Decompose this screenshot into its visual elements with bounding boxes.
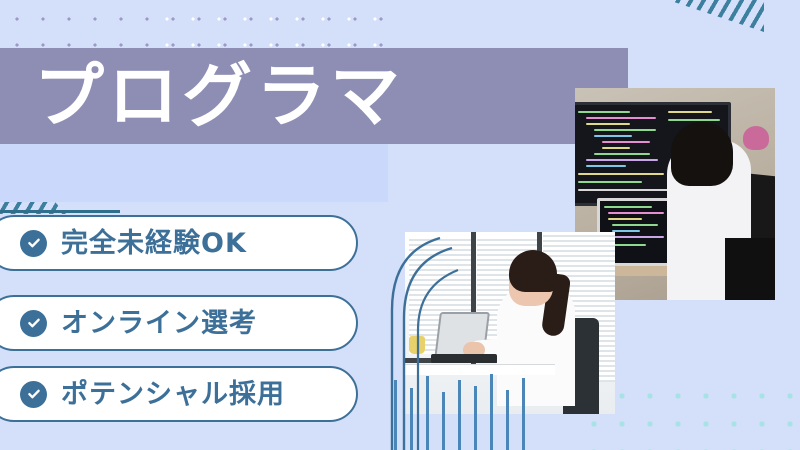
page-title: プログラマ bbox=[34, 61, 404, 131]
check-circle-icon bbox=[20, 310, 47, 337]
coffee-mug bbox=[409, 336, 425, 354]
banner-canvas: プログラマ bbox=[0, 0, 800, 450]
title-band: プログラマ bbox=[0, 48, 628, 144]
feature-pill-label: オンライン選考 bbox=[61, 310, 257, 337]
title-band-underlay bbox=[0, 144, 388, 202]
feature-pill-label: ポテンシャル採用 bbox=[61, 381, 285, 408]
feature-pill-label: 完全未経験OK bbox=[61, 230, 247, 257]
check-circle-icon bbox=[20, 230, 47, 257]
laptop-base bbox=[431, 354, 497, 363]
feature-pill-2[interactable]: ポテンシャル採用 bbox=[0, 366, 358, 422]
plant-decor bbox=[743, 126, 769, 150]
dot-pattern-top-white bbox=[150, 0, 383, 48]
check-circle-icon bbox=[20, 381, 47, 408]
feature-pill-0[interactable]: 完全未経験OK bbox=[0, 215, 358, 271]
feature-pill-1[interactable]: オンライン選考 bbox=[0, 295, 358, 351]
person-hair bbox=[509, 250, 557, 292]
teal-rule-left bbox=[0, 210, 120, 213]
person-hair bbox=[671, 122, 733, 186]
office-chair-base bbox=[725, 238, 775, 300]
vertical-line-decorations bbox=[392, 372, 582, 450]
